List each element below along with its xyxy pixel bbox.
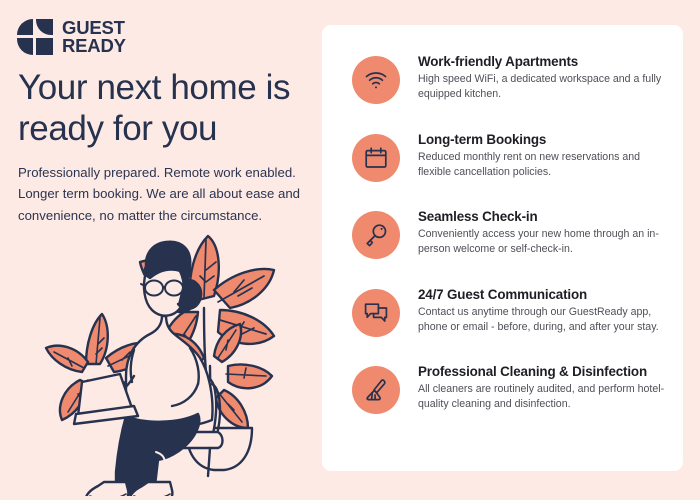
brand-logo[interactable]: GUEST READY — [17, 19, 126, 55]
feature-item-professional-cleaning[interactable]: Professional Cleaning & Disinfection All… — [322, 363, 683, 419]
feature-item-work-friendly-apartments[interactable]: Work-friendly Apartments High speed WiFi… — [322, 53, 683, 109]
feature-title: Work-friendly Apartments — [418, 54, 667, 69]
guestready-quadrant-logo-icon — [17, 19, 53, 55]
feature-text: Seamless Check-in Conveniently access yo… — [418, 208, 667, 257]
feature-text: Work-friendly Apartments High speed WiFi… — [418, 53, 667, 102]
feature-list: Work-friendly Apartments High speed WiFi… — [322, 25, 683, 471]
hero-illustration — [38, 224, 318, 496]
brand-wordmark: GUEST READY — [62, 19, 126, 55]
chat-bubbles-icon — [363, 300, 389, 326]
feature-title: Long-term Bookings — [418, 132, 667, 147]
features-panel: Work-friendly Apartments High speed WiFi… — [322, 25, 683, 471]
person-illustration — [74, 242, 213, 496]
hero-subcopy: Professionally prepared. Remote work ena… — [18, 162, 300, 226]
feature-item-seamless-check-in[interactable]: Seamless Check-in Conveniently access yo… — [322, 208, 683, 264]
feature-icon-badge — [352, 366, 400, 414]
feature-title: Professional Cleaning & Disinfection — [418, 364, 667, 379]
hero-column: GUEST READY Your next home is ready for … — [0, 0, 322, 500]
feature-text: Professional Cleaning & Disinfection All… — [418, 363, 667, 412]
feature-icon-badge — [352, 211, 400, 259]
wifi-icon — [363, 67, 389, 93]
feature-icon-badge — [352, 289, 400, 337]
feature-description: Conveniently access your new home throug… — [418, 227, 667, 257]
broom-icon — [363, 377, 389, 403]
feature-description: Contact us anytime through our GuestRead… — [418, 305, 667, 335]
calendar-icon — [363, 145, 389, 171]
feature-description: High speed WiFi, a dedicated workspace a… — [418, 72, 667, 102]
feature-title: Seamless Check-in — [418, 209, 667, 224]
brand-name-line2: READY — [62, 37, 126, 55]
feature-text: Long-term Bookings Reduced monthly rent … — [418, 131, 667, 180]
feature-icon-badge — [352, 56, 400, 104]
feature-item-guest-communication[interactable]: 24/7 Guest Communication Contact us anyt… — [322, 286, 683, 342]
page-title: Your next home is ready for you — [18, 68, 308, 149]
feature-text: 24/7 Guest Communication Contact us anyt… — [418, 286, 667, 335]
page-root: GUEST READY Your next home is ready for … — [0, 0, 700, 500]
feature-description: All cleaners are routinely audited, and … — [418, 382, 667, 412]
feature-description: Reduced monthly rent on new reservations… — [418, 150, 667, 180]
feature-item-long-term-bookings[interactable]: Long-term Bookings Reduced monthly rent … — [322, 131, 683, 187]
feature-title: 24/7 Guest Communication — [418, 287, 667, 302]
key-icon — [363, 222, 389, 248]
feature-icon-badge — [352, 134, 400, 182]
